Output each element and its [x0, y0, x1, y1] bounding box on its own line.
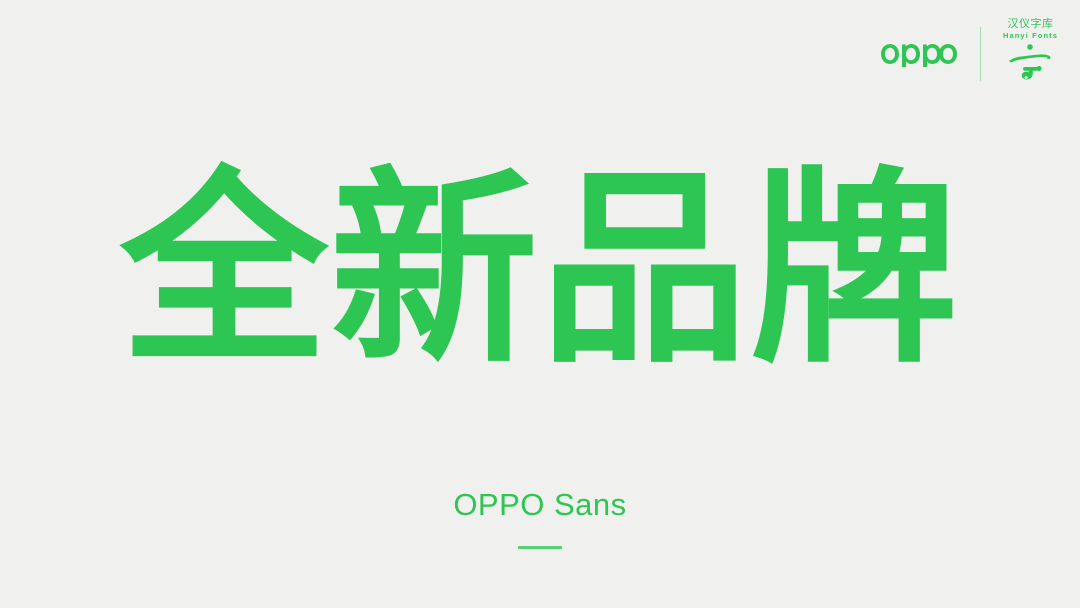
caption-section: OPPO Sans: [0, 486, 1080, 549]
hero-section: 全新品牌: [0, 162, 1080, 380]
hanyi-fonts-logo[interactable]: 汉仪字库 Hanyi Fonts: [981, 18, 1058, 90]
hanyi-chinese-name: 汉仪字库: [1007, 18, 1053, 30]
brand-lockup: 汉仪字库 Hanyi Fonts: [880, 18, 1058, 90]
hanyi-zi-brush-mark-icon: [1007, 43, 1053, 88]
hero-title: 全新品牌: [0, 162, 1080, 380]
caption-divider-rule: [518, 546, 562, 549]
oppo-wordmark-icon: [880, 41, 958, 67]
hanyi-english-name: Hanyi Fonts: [1003, 31, 1058, 41]
oppo-logo[interactable]: [880, 18, 980, 90]
slide-canvas: 汉仪字库 Hanyi Fonts: [0, 0, 1080, 608]
font-name-label: OPPO Sans: [0, 486, 1080, 524]
